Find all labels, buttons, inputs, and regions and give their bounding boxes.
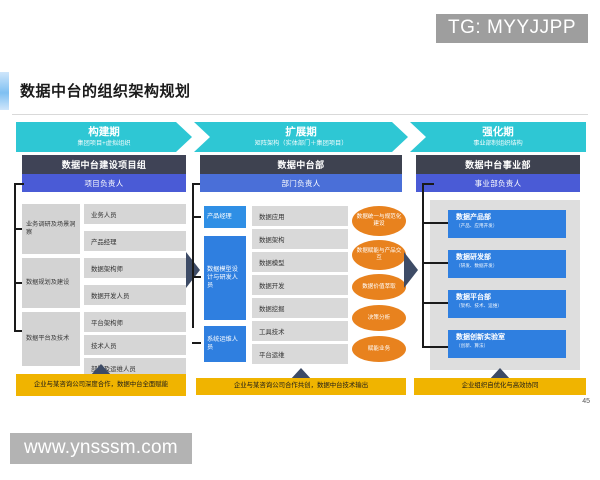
right-bracket-top <box>422 183 434 185</box>
telegram-watermark: TG: MYYJJPP <box>436 14 588 43</box>
transition-arrow-2 <box>404 252 418 288</box>
phase-chevron-3: 强化期 事业部制组织结构 <box>410 122 586 152</box>
left-category-2: 数据平台及技术 <box>22 312 80 366</box>
middle-task-6: 平台运维 <box>252 344 348 364</box>
phase-2-name: 扩展期 <box>285 127 317 139</box>
owner-bar-left: 项目负责人 <box>22 174 186 192</box>
left-category-column: 业务调研及场景洞察 数据规划及建设 数据平台及技术 <box>22 200 80 370</box>
left-column-panel: 业务调研及场景洞察 数据规划及建设 数据平台及技术 业务人员 产品经理 数据架构… <box>22 200 186 370</box>
middle-task-3: 数据开发 <box>252 275 348 295</box>
left-role-column: 业务人员 产品经理 数据架构师 数据开发人员 平台架构师 技术人员 部署及运维人… <box>84 200 186 370</box>
phase-chevron-2: 扩展期 矩阵架构（实体部门＋集团项目） <box>194 122 408 152</box>
department-3-name: 数据创新实验室 <box>456 334 566 342</box>
left-category-0: 业务调研及场景洞察 <box>22 204 80 254</box>
department-1: 数据研发部 （研发、数据开发） <box>448 250 566 278</box>
phase-chevron-1: 构建期 集团项目+虚拟组织 <box>16 122 192 152</box>
middle-bracket-trunk <box>192 183 194 328</box>
owner-bar-middle: 部门负责人 <box>200 174 402 192</box>
org-header-left: 数据中台建设项目组 <box>22 155 186 174</box>
left-role-3: 数据开发人员 <box>84 285 186 305</box>
title-divider <box>12 114 588 115</box>
right-bracket-arm-1 <box>422 262 448 264</box>
middle-task-5: 工具技术 <box>252 321 348 341</box>
department-0: 数据产品部 （产品、应用开发） <box>448 210 566 238</box>
department-1-name: 数据研发部 <box>456 254 566 262</box>
middle-task-4: 数据挖掘 <box>252 298 348 318</box>
left-bracket-top <box>14 183 24 185</box>
outcome-ellipse-1: 数据赋能与产品交互 <box>352 240 406 270</box>
right-column-panel: 数据产品部 （产品、应用开发） 数据研发部 （研发、数据开发） 数据平台部 （架… <box>430 200 580 370</box>
middle-column-panel: 产品经理 数据模型设计与研发人员 系统运维人员 数据应用 数据架构 数据模型 数… <box>200 200 402 370</box>
right-bracket-arm-0 <box>422 222 448 224</box>
department-2-subtitle: （架构、技术、运维） <box>456 304 566 309</box>
department-2: 数据平台部 （架构、技术、运维） <box>448 290 566 318</box>
department-1-subtitle: （研发、数据开发） <box>456 264 566 269</box>
left-role-0: 业务人员 <box>84 204 186 224</box>
footer-banner-2: 企业与某咨询公司合作共创，数据中台技术输出 <box>196 378 406 395</box>
middle-task-1: 数据架构 <box>252 229 348 249</box>
site-watermark: www.ynsssm.com <box>10 433 192 464</box>
phase-1-subtitle: 集团项目+虚拟组织 <box>77 140 130 147</box>
title-accent-bar <box>0 72 9 110</box>
left-bracket-trunk <box>14 183 16 330</box>
page-title: 数据中台的组织架构规划 <box>20 80 191 101</box>
phase-1-name: 构建期 <box>88 127 120 139</box>
middle-task-2: 数据模型 <box>252 252 348 272</box>
department-0-subtitle: （产品、应用开发） <box>456 224 566 229</box>
department-3-subtitle: （创新、算法） <box>456 344 566 349</box>
left-category-1: 数据规划及建设 <box>22 258 80 308</box>
middle-role-1: 数据模型设计与研发人员 <box>204 236 246 320</box>
middle-task-0: 数据应用 <box>252 206 348 226</box>
org-header-right: 数据中台事业部 <box>416 155 580 174</box>
phase-2-subtitle: 矩阵架构（实体部门＋集团项目） <box>255 140 348 147</box>
owner-bar-right: 事业部负责人 <box>416 174 580 192</box>
right-bracket-trunk <box>422 183 424 347</box>
left-role-1: 产品经理 <box>84 231 186 251</box>
outcome-ellipse-0: 数据统一与规范化建设 <box>352 206 406 236</box>
department-2-name: 数据平台部 <box>456 294 566 302</box>
middle-role-0: 产品经理 <box>204 206 246 228</box>
department-3: 数据创新实验室 （创新、算法） <box>448 330 566 358</box>
left-role-4: 平台架构师 <box>84 312 186 332</box>
phase-3-subtitle: 事业部制组织结构 <box>473 140 523 147</box>
outcome-ellipse-2: 数据价值萃取 <box>352 274 406 300</box>
left-role-2: 数据架构师 <box>84 258 186 278</box>
right-bracket-arm-2 <box>422 302 448 304</box>
middle-role-2: 系统运维人员 <box>204 326 246 362</box>
outcome-ellipse-4: 赋能业务 <box>352 336 406 362</box>
slide-canvas: TG: MYYJJPP www.ynsssm.com 数据中台的组织架构规划 构… <box>0 0 600 480</box>
page-number: 45 <box>582 398 590 405</box>
footer-banner-3: 企业组织自优化与高效协同 <box>414 378 586 395</box>
right-bracket-arm-3 <box>422 346 448 348</box>
left-role-5: 技术人员 <box>84 335 186 355</box>
org-header-middle: 数据中台部 <box>200 155 402 174</box>
phase-3-name: 强化期 <box>482 127 514 139</box>
middle-bracket-top <box>192 183 200 185</box>
footer-banner-1: 企业与某咨询公司深度合作，数据中台全面赋能 <box>16 374 186 396</box>
department-0-name: 数据产品部 <box>456 214 566 222</box>
outcome-ellipse-3: 决策分析 <box>352 305 406 331</box>
